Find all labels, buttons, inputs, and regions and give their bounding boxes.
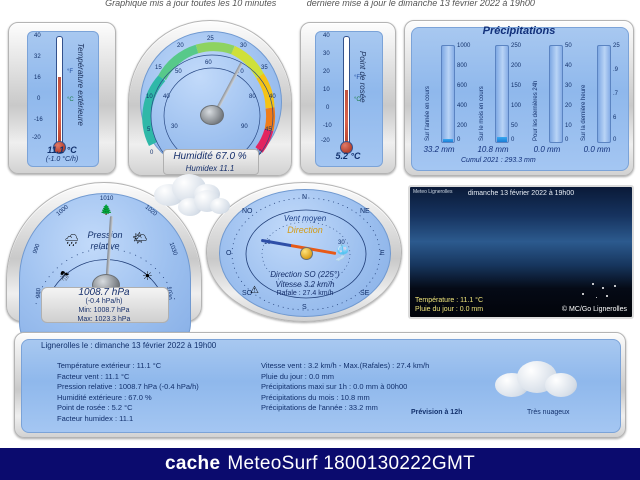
p-scale-1010: 1010 xyxy=(100,196,113,202)
precip-value-24h: 0.0 mm xyxy=(521,145,573,154)
humidity-hub xyxy=(200,105,224,125)
pressure-title-line2: relative xyxy=(20,241,190,251)
compass-s: S xyxy=(302,304,307,311)
pressure-gauge-face: 1010 1000 990 980 1020 1030 1040 🌧 ⛈ 🌤 ☀… xyxy=(19,193,191,353)
summary-right-line-4: Précipitations de l'année : 33.2 mm xyxy=(261,403,429,414)
dp-scale-4: 0 xyxy=(326,105,329,111)
pressure-min: Min: 1008.7 hPa xyxy=(7,307,201,314)
star-dot xyxy=(606,295,608,297)
pd-s0: 50 xyxy=(565,43,572,49)
scale-mark-1: 32 xyxy=(34,54,41,60)
summary-right-line-1: Pluie du jour : 0.0 mm xyxy=(261,372,429,383)
pd-s4: 10 xyxy=(565,123,572,129)
sunny-weather-icon: ☀ xyxy=(142,270,153,282)
humidity-tick-2: 15 xyxy=(155,65,162,71)
weather-dashboard: Graphique mis à jour toutes les 10 minut… xyxy=(0,0,640,480)
humidity-tick-6: 30 xyxy=(240,43,247,49)
wind-direction-value: Direction SO (225°) xyxy=(220,270,390,279)
precip-label-24h: Pour les dernières 24h xyxy=(533,81,539,141)
pm-s4: 50 xyxy=(511,123,518,129)
summary-heading: Lignerolles le : dimanche 13 février 202… xyxy=(41,341,216,350)
forecast-label: Prévision à 12h xyxy=(411,409,462,416)
dp-scale-1: 30 xyxy=(323,51,330,57)
webcam-photo-panel[interactable]: Meteo Lignerolles dimanche 13 février 20… xyxy=(408,185,634,319)
dp-scale-5: -10 xyxy=(323,123,332,129)
pd-s3: 20 xyxy=(565,103,572,109)
precip-bar-hour xyxy=(597,45,611,143)
header-notes: Graphique mis à jour toutes les 10 minut… xyxy=(0,0,640,8)
pressure-value: 1008.7 hPa xyxy=(7,287,201,298)
dp-unit-fahrenheit: °F xyxy=(354,75,360,81)
summary-left-line-4: Point de rosée : 5.2 °C xyxy=(57,403,199,414)
summary-right-line-0: Vitesse vent : 3.2 km/h - Max.(Rafales) … xyxy=(261,361,429,372)
scale-mark-2: 16 xyxy=(34,75,41,81)
compass-n: N xyxy=(302,194,307,201)
summary-left-line-0: Température extérieur : 11.1 °C xyxy=(57,361,199,372)
wind-compass-face: N NE E SE S SO O NO 10 30 Vent moyen Dir… xyxy=(219,189,391,317)
humidity-tick-8: 40 xyxy=(269,94,276,100)
outdoor-temp-title: Température extérieure xyxy=(76,43,85,126)
bottom-bar-prefix: cache xyxy=(165,453,220,475)
humidity-tick-0: 25 xyxy=(207,36,214,42)
tree-weather-icon: 🌲 xyxy=(100,206,112,216)
scale-mark-3: 0 xyxy=(37,96,40,102)
pm-s0: 250 xyxy=(511,43,521,49)
pd-s5: 0 xyxy=(565,137,568,143)
star-dot xyxy=(602,287,604,289)
humidity-gauge-panel[interactable]: 25 20 15 10 5 0 30 35 40 45 50 60 50 40 … xyxy=(128,20,292,176)
summary-right-line-2: Précipitations maxi sur 1h : 0.0 mm à 00… xyxy=(261,382,429,393)
py-s5: 0 xyxy=(457,137,460,143)
precip-bar-month xyxy=(495,45,509,143)
precip-label-hour: Sur la dernière heure xyxy=(581,85,587,141)
dewpoint-tube xyxy=(343,36,350,144)
summary-left-column: Température extérieur : 11.1 °C Facteur … xyxy=(57,361,199,424)
summary-panel[interactable]: Lignerolles le : dimanche 13 février 202… xyxy=(14,332,626,438)
dewpoint-mercury xyxy=(345,90,348,143)
pd-s1: 40 xyxy=(565,63,572,69)
py-s2: 600 xyxy=(457,83,467,89)
py-s4: 200 xyxy=(457,123,467,129)
scale-mark-5: -20 xyxy=(32,135,41,141)
precip-bar-24h xyxy=(549,45,563,143)
precipitation-panel[interactable]: Précipitations Sur l'année en cours 1000… xyxy=(404,20,634,176)
thermometer-tube xyxy=(56,36,63,144)
dp-scale-2: 20 xyxy=(323,69,330,75)
summary-left-line-3: Humidité extérieure : 67.0 % xyxy=(57,393,199,404)
star-dot xyxy=(596,297,597,298)
forecast-value: Très nuageux xyxy=(527,409,570,416)
humidity-value: Humidité 67.0 % xyxy=(129,151,291,162)
pm-s3: 100 xyxy=(511,103,521,109)
scale-mark-0: 40 xyxy=(34,33,41,39)
humidity-inner-tick-mid: 60 xyxy=(205,60,212,66)
humidity-inner-tick-a: 50 xyxy=(175,69,182,75)
precip-fill-year xyxy=(443,139,453,142)
webcam-temperature: Température : 11.1 °C xyxy=(415,297,483,304)
ph-s0: 25 xyxy=(613,43,620,49)
forecast-cloud-icon xyxy=(493,359,579,397)
wind-title-line2: Direction xyxy=(220,225,390,235)
precip-cumul: Cumul 2021 : 293.3 mm xyxy=(461,157,536,164)
dp-scale-6: -20 xyxy=(321,138,330,144)
ph-s4: 0 xyxy=(613,137,616,143)
unit-fahrenheit: °F xyxy=(67,69,73,75)
humidity-tick-1: 20 xyxy=(177,43,184,49)
star-dot xyxy=(614,285,616,287)
humidity-inner-tick-f: 90 xyxy=(241,124,248,130)
scale-mark-4: -16 xyxy=(34,117,43,123)
precip-label-year: Sur l'année en cours xyxy=(425,86,431,141)
humidity-inner-tick-e: 80 xyxy=(249,94,256,100)
bottom-bar-text: MeteoSurf 1800130222GMT xyxy=(227,453,475,475)
humidity-inner-tick-b: 40 xyxy=(163,94,170,100)
summary-left-line-5: Facteur humidex : 11.1 xyxy=(57,414,199,425)
bottom-status-bar: cache MeteoSurf 1800130222GMT xyxy=(0,448,640,480)
pressure-title-line1: Pression xyxy=(20,230,190,240)
dp-scale-3: 10 xyxy=(323,87,330,93)
summary-left-line-1: Facteur vent : 11.1 °C xyxy=(57,372,199,383)
py-s0: 1000 xyxy=(457,43,470,49)
ph-s3: 6 xyxy=(613,115,616,121)
precip-gauge-24h[interactable]: Pour les dernières 24h 50 40 30 20 10 0 xyxy=(525,45,577,143)
pd-s2: 30 xyxy=(565,83,572,89)
webcam-rain: Pluie du jour : 0.0 mm xyxy=(415,306,483,313)
precip-value-month: 10.8 mm xyxy=(467,145,519,154)
precip-fill-month xyxy=(497,137,507,142)
unit-celsius: °C xyxy=(67,97,74,103)
outdoor-temp-value: 11.1 °C xyxy=(9,145,115,155)
precip-gauge-hour[interactable]: Sur la dernière heure 25 .9 .7 6 0 xyxy=(577,45,629,143)
webcam-date: dimanche 13 février 2022 à 19h00 xyxy=(410,190,632,197)
cloud-decoration-lower xyxy=(178,190,232,216)
humidity-tick-3: 10 xyxy=(146,94,153,100)
dp-unit-celsius: °C xyxy=(354,97,361,103)
pm-s2: 150 xyxy=(511,83,521,89)
humidity-tick-7: 35 xyxy=(261,65,268,71)
outdoor-temp-trend: (-1.0 °C/h) xyxy=(9,156,115,163)
humidity-tick-9: 45 xyxy=(265,127,272,133)
webcam-credit: © MC/Go Lignerolles xyxy=(562,306,627,313)
precip-value-year: 33.2 mm xyxy=(413,145,465,154)
precip-value-hour: 0.0 mm xyxy=(571,145,623,154)
wind-gust-value: Rafale : 27.4 km/h xyxy=(220,290,390,297)
update-interval-note: Graphique mis à jour toutes les 10 minut… xyxy=(105,0,276,8)
humidity-inner-tick-c: 30 xyxy=(171,124,178,130)
ph-s1: .9 xyxy=(613,67,618,73)
dewpoint-panel[interactable]: Point de rosée 40 30 20 10 0 -10 -20 °F … xyxy=(300,22,396,174)
wind-compass-panel[interactable]: N NE E SE S SO O NO 10 30 Vent moyen Dir… xyxy=(206,182,402,322)
py-s1: 800 xyxy=(457,63,467,69)
summary-right-column: Vitesse vent : 3.2 km/h - Max.(Rafales) … xyxy=(261,361,429,414)
mercury-column xyxy=(58,77,61,143)
compass-e: E xyxy=(380,250,385,257)
dewpoint-value: 5.2 °C xyxy=(301,151,395,161)
precip-bar-year xyxy=(441,45,455,143)
compass-o: O xyxy=(226,250,231,257)
precip-label-month: Sur le mois en cours xyxy=(479,86,485,141)
storm-weather-icon: ⛈ xyxy=(60,270,70,282)
py-s3: 400 xyxy=(457,103,467,109)
precipitation-title: Précipitations xyxy=(405,25,633,37)
pressure-trend: (-0.4 hPa/h) xyxy=(7,298,201,305)
wind-title-line1: Vent moyen xyxy=(220,214,390,223)
precip-gauge-month[interactable]: Sur le mois en cours 250 200 150 100 50 … xyxy=(471,45,523,143)
dp-scale-0: 40 xyxy=(323,33,330,39)
precip-gauge-year[interactable]: Sur l'année en cours 1000 800 600 400 20… xyxy=(417,45,469,143)
star-dot xyxy=(592,283,594,285)
humidity-tick-4: 5 xyxy=(147,127,150,133)
wind-hub xyxy=(300,247,313,260)
summary-left-line-2: Pression relative : 1008.7 hPa (-0.4 hPa… xyxy=(57,382,199,393)
ph-s2: .7 xyxy=(613,91,618,97)
last-update-note: derniere mise à jour le dimanche 13 févr… xyxy=(307,0,535,8)
wind-speed-value: Vitesse 3.2 km/h xyxy=(220,280,390,289)
star-dot xyxy=(582,293,584,295)
pm-s1: 200 xyxy=(511,63,521,69)
pm-s5: 0 xyxy=(511,137,514,143)
summary-right-line-3: Précipitations du mois : 10.8 mm xyxy=(261,393,429,404)
outdoor-temperature-panel[interactable]: Température extérieure 40 32 16 0 -16 -2… xyxy=(8,22,116,174)
pressure-max: Max: 1023.3 hPa xyxy=(7,316,201,323)
wind-sock-icon: 🎐 xyxy=(332,246,352,262)
